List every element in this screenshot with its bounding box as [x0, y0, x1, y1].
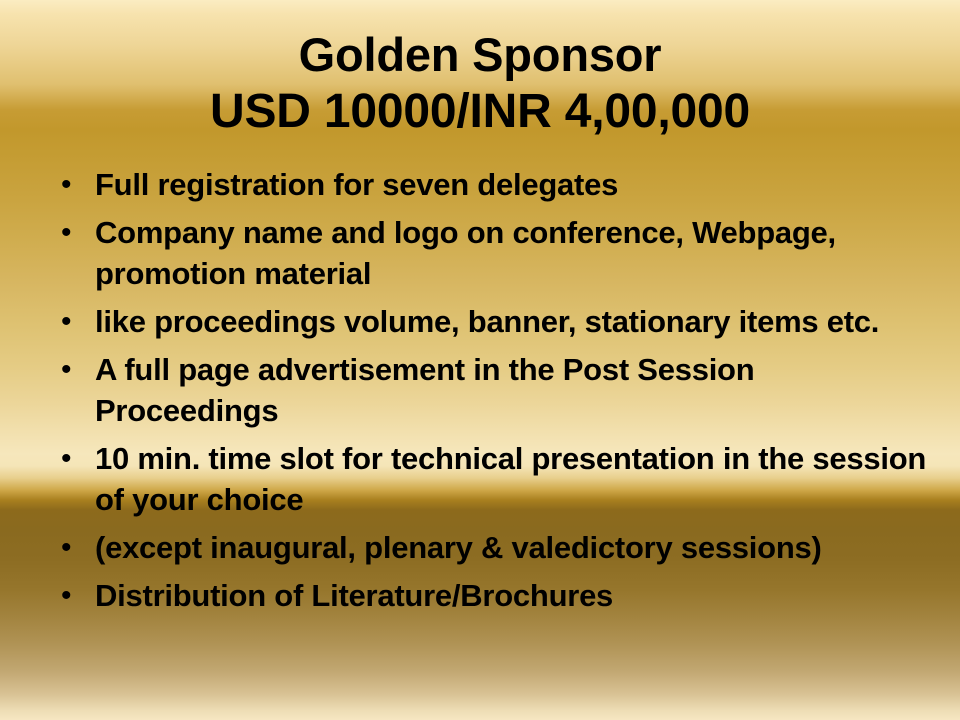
bullet-point-icon: •: [48, 575, 95, 616]
slide-title-line-1: Golden Sponsor: [0, 26, 960, 83]
list-item-label: 10 min. time slot for technical presenta…: [95, 438, 928, 520]
bullet-point-icon: •: [48, 438, 95, 479]
list-item-label: Company name and logo on conference, Web…: [95, 212, 928, 294]
list-item: • Company name and logo on conference, W…: [48, 212, 928, 294]
benefits-bullet-list: • Full registration for seven delegates …: [48, 164, 928, 623]
list-item-label: (except inaugural, plenary & valedictory…: [95, 527, 928, 568]
bullet-point-icon: •: [48, 301, 95, 342]
bullet-point-icon: •: [48, 527, 95, 568]
slide-title-line-2: USD 10000/INR 4,00,000: [0, 83, 960, 140]
slide-title: Golden Sponsor USD 10000/INR 4,00,000: [0, 26, 960, 140]
list-item: • like proceedings volume, banner, stati…: [48, 301, 928, 342]
list-item-label: like proceedings volume, banner, station…: [95, 301, 928, 342]
list-item: • A full page advertisement in the Post …: [48, 349, 928, 431]
presentation-slide: Golden Sponsor USD 10000/INR 4,00,000 • …: [0, 0, 960, 720]
list-item: • Full registration for seven delegates: [48, 164, 928, 205]
bullet-point-icon: •: [48, 349, 95, 390]
list-item: • (except inaugural, plenary & valedicto…: [48, 527, 928, 568]
list-item: • Distribution of Literature/Brochures: [48, 575, 928, 616]
list-item-label: Distribution of Literature/Brochures: [95, 575, 928, 616]
list-item-label: A full page advertisement in the Post Se…: [95, 349, 928, 431]
list-item: • 10 min. time slot for technical presen…: [48, 438, 928, 520]
list-item-label: Full registration for seven delegates: [95, 164, 928, 205]
bullet-point-icon: •: [48, 212, 95, 253]
bullet-point-icon: •: [48, 164, 95, 205]
